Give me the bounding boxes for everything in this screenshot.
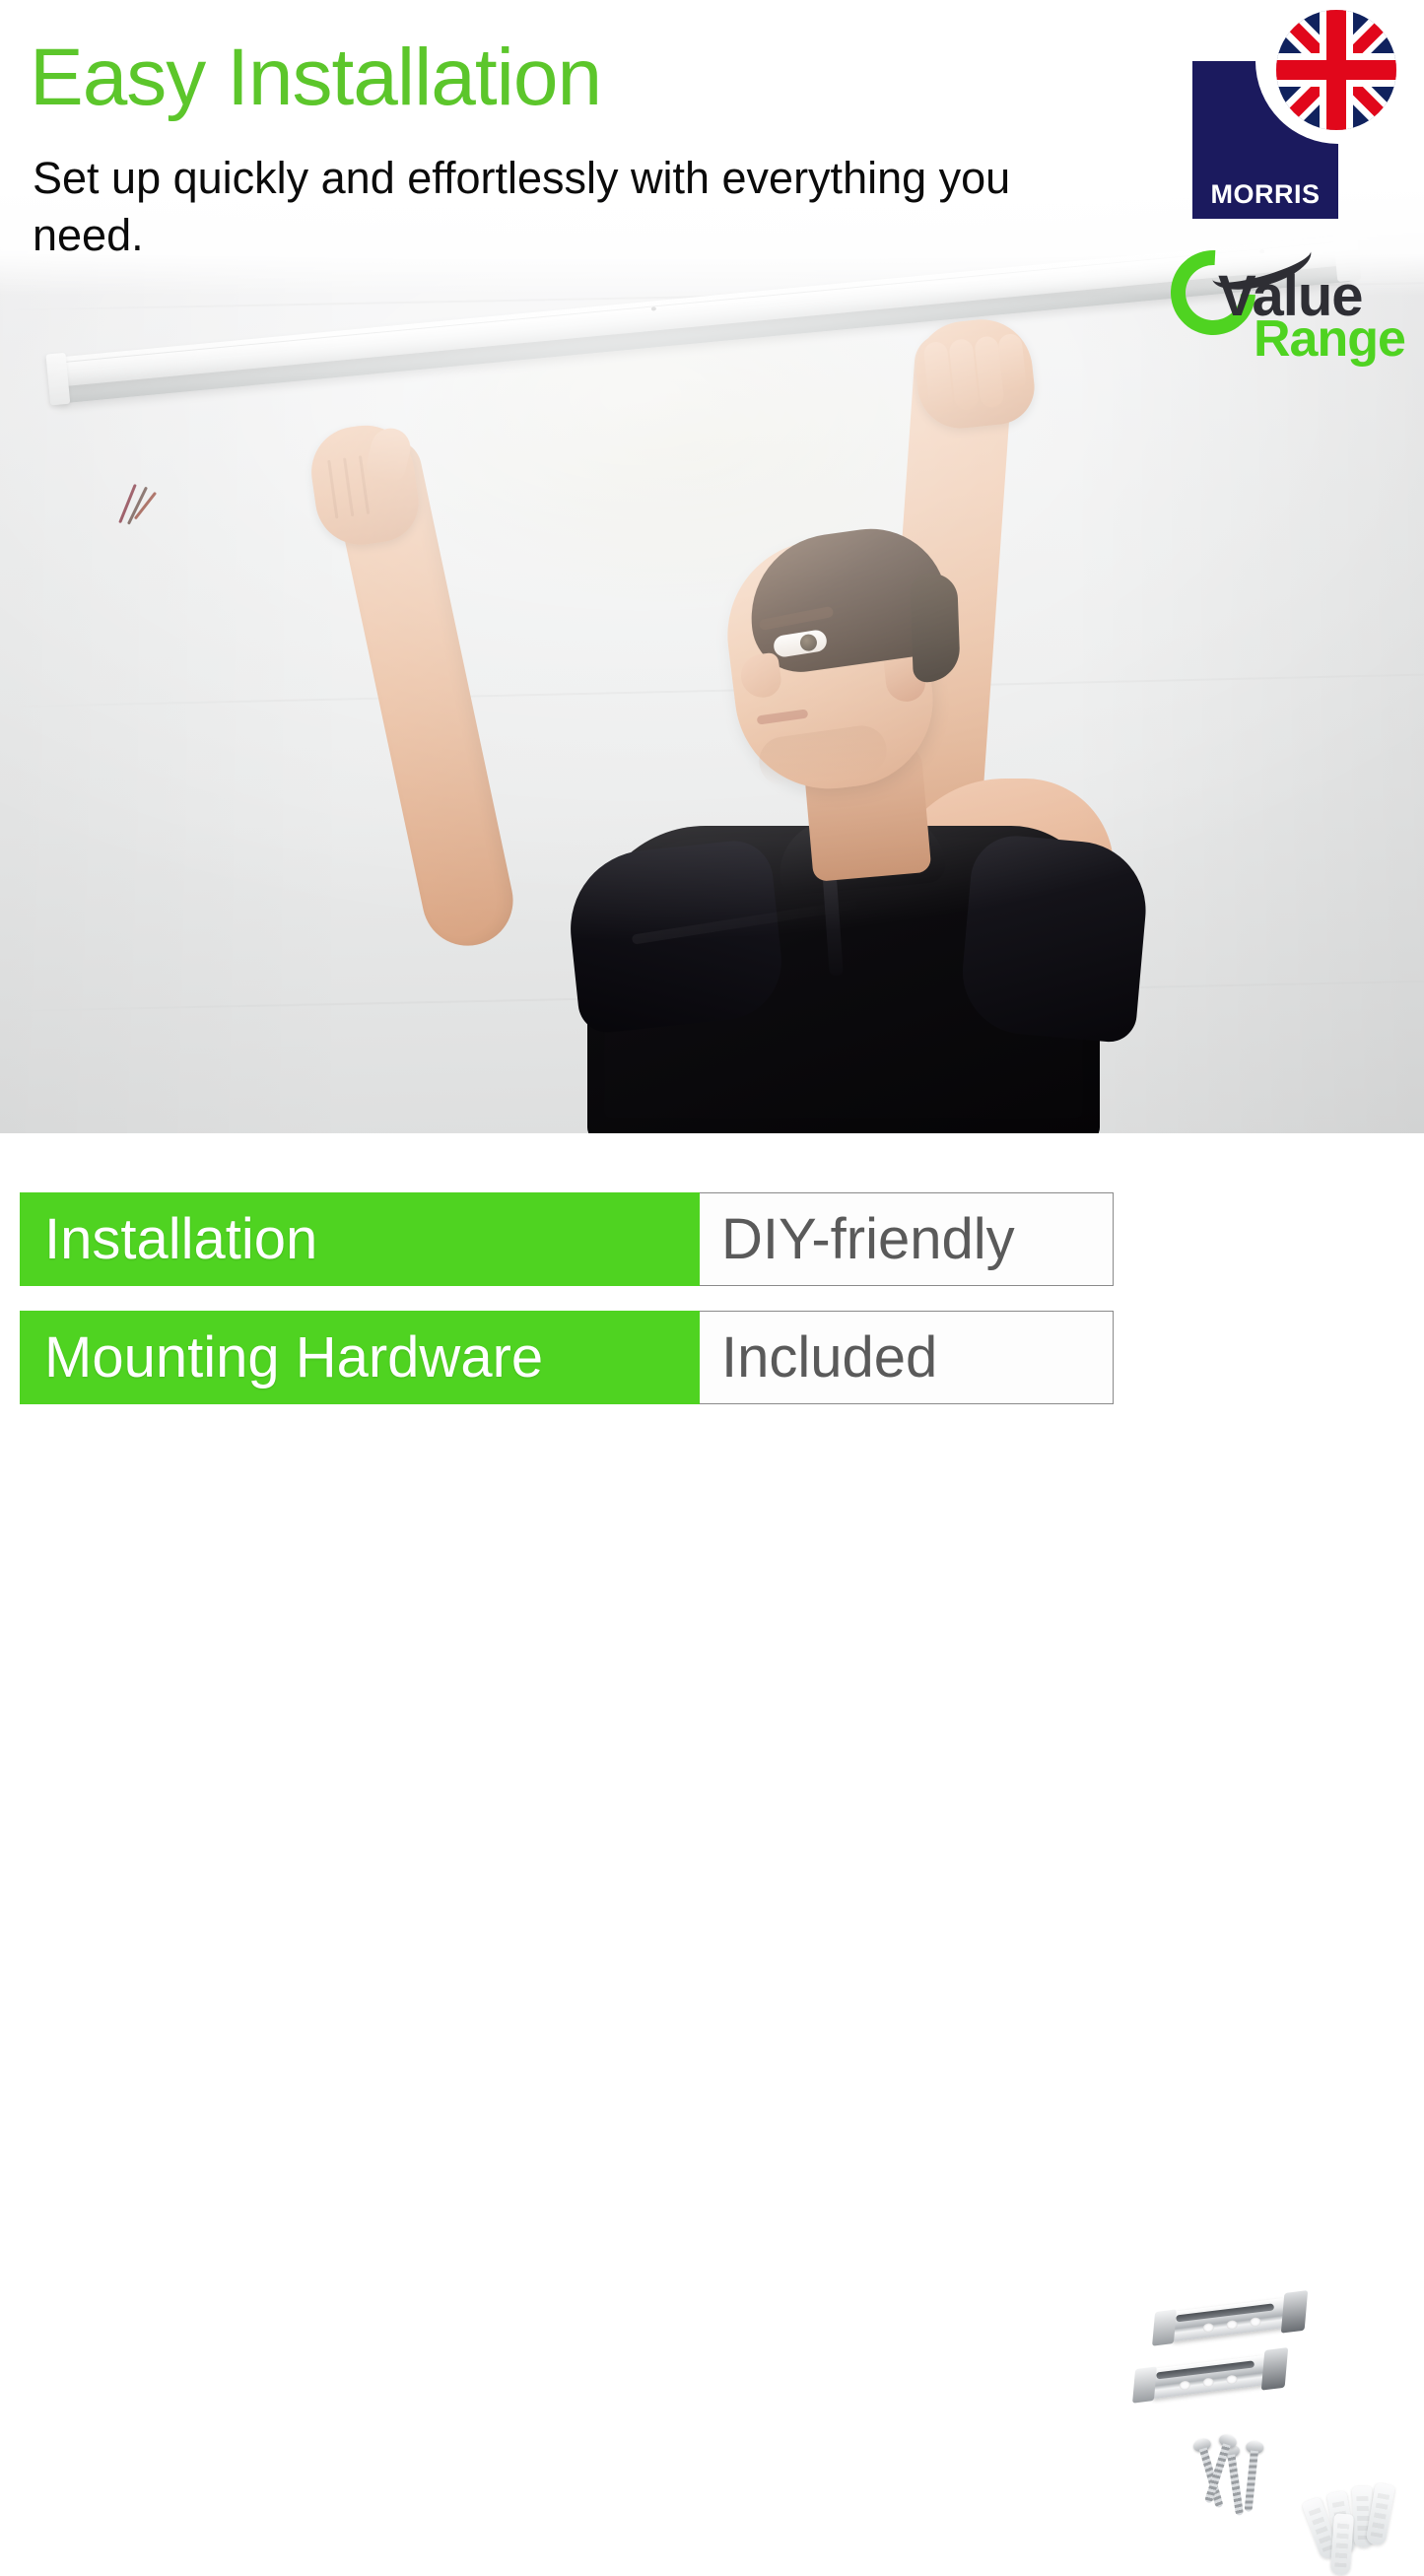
page-subtitle: Set up quickly and effortlessly with eve…: [33, 150, 1077, 264]
value-range-logo: Value Range: [1167, 244, 1401, 363]
screw-shaft: [1244, 2451, 1257, 2512]
union-jack-circle-icon: [1276, 10, 1396, 130]
bracket-tab-right: [1261, 2347, 1288, 2391]
screw-shaft: [1227, 2454, 1244, 2516]
wall-plug: [1330, 2513, 1354, 2575]
spec-value-installation: DIY-friendly: [700, 1192, 1114, 1286]
wood-screw: [1242, 2440, 1261, 2514]
brand-logo-block: MORRIS Value Range: [1161, 6, 1402, 371]
spec-value-mounting-hardware: Included: [700, 1311, 1114, 1404]
spec-row-installation: Installation DIY-friendly: [20, 1192, 1114, 1286]
value-range-word-range: Range: [1254, 313, 1405, 365]
bracket-tab-left: [1152, 2309, 1177, 2345]
flag-cross-red-horizontal: [1276, 60, 1396, 80]
spec-label-installation: Installation: [20, 1192, 700, 1286]
spec-table: Installation DIY-friendly Mounting Hardw…: [0, 1133, 1424, 1424]
morris-wordmark: MORRIS: [1198, 179, 1332, 210]
mounting-bracket-clip: [1153, 2288, 1305, 2351]
mounting-hardware-image: [1133, 2291, 1424, 2552]
bracket-tab-left: [1132, 2366, 1157, 2403]
page-title: Easy Installation: [30, 35, 601, 120]
spec-label-mounting-hardware: Mounting Hardware: [20, 1311, 700, 1404]
bracket-tab-right: [1281, 2290, 1308, 2334]
mounting-bracket-clip: [1133, 2345, 1285, 2408]
spec-row-mounting-hardware: Mounting Hardware Included: [20, 1311, 1114, 1404]
